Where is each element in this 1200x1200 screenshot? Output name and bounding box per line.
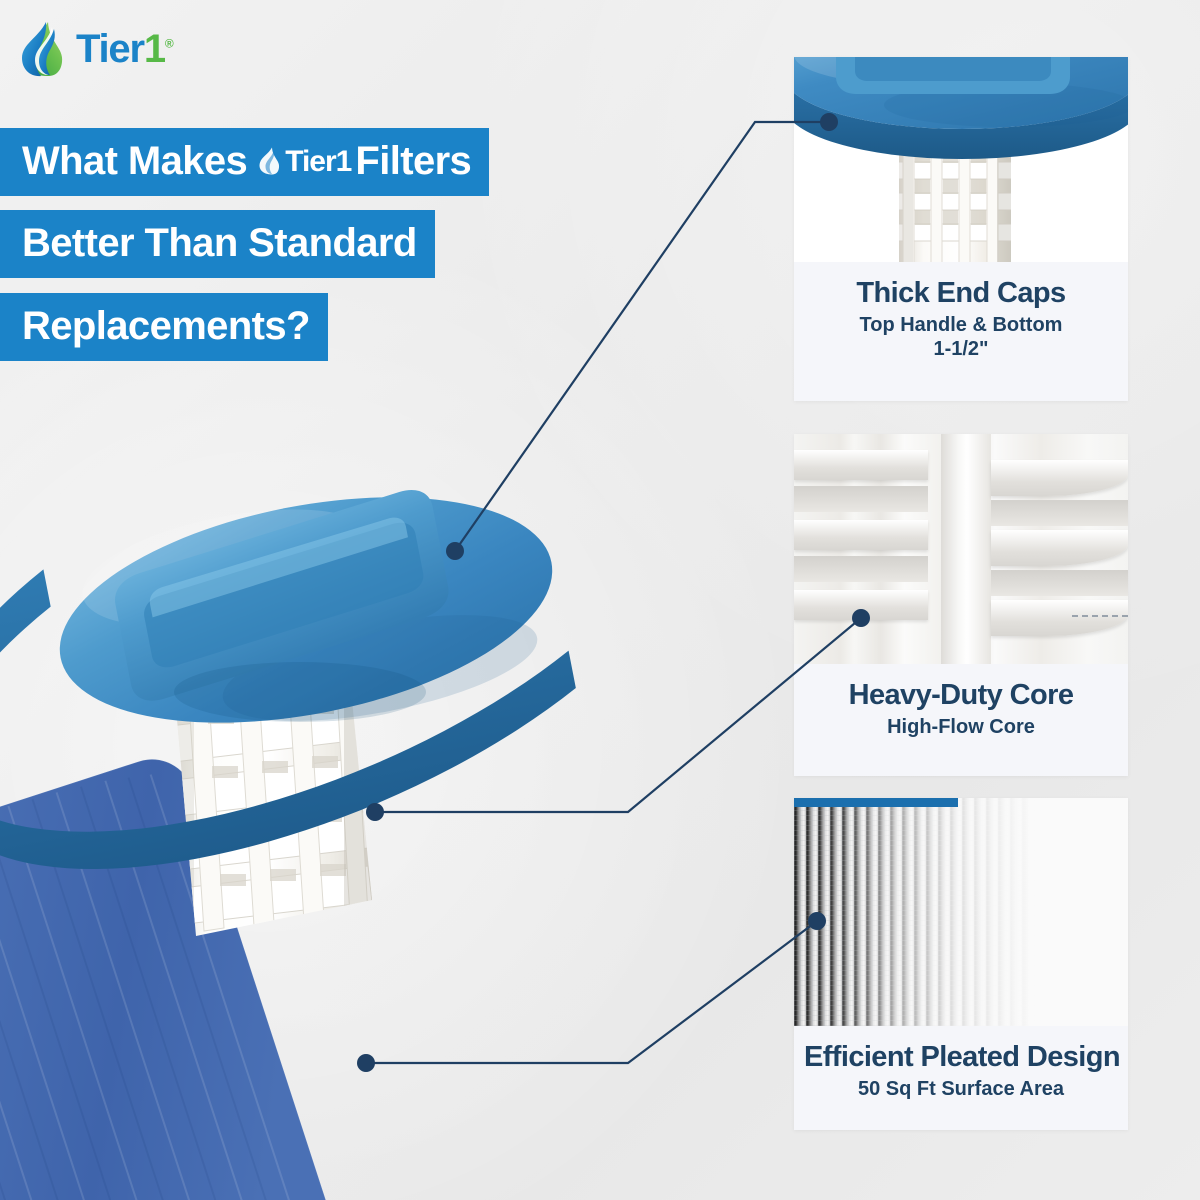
headline-line-1: What Makes Tier1 Filters bbox=[0, 128, 489, 196]
core-window bbox=[794, 486, 928, 512]
core-measurement-hint-line bbox=[1072, 615, 1128, 617]
core-rib bbox=[794, 520, 928, 550]
infographic-canvas: Tier1® What Makes Tier1 Filters Better T… bbox=[0, 0, 1200, 1200]
logo-wordmark: Tier1® bbox=[76, 29, 173, 69]
core-window bbox=[991, 570, 1128, 596]
panel-3-title: Efficient Pleated Design bbox=[804, 1042, 1118, 1072]
inline-tier1-logo: Tier1 bbox=[257, 145, 351, 177]
pleated-media-photo bbox=[794, 798, 1128, 1026]
core-center-post bbox=[941, 434, 991, 664]
inline-logo-wordmark: Tier1 bbox=[285, 147, 351, 177]
end-cap-handle bbox=[836, 57, 1070, 94]
core-rib bbox=[794, 590, 928, 620]
core-rib bbox=[794, 450, 928, 480]
heavy-duty-core-photo bbox=[794, 434, 1128, 664]
callout-panel-efficient-pleated-design[interactable]: Efficient Pleated Design 50 Sq Ft Surfac… bbox=[794, 798, 1128, 1130]
panel-3-caption: Efficient Pleated Design 50 Sq Ft Surfac… bbox=[794, 1026, 1128, 1130]
hero-product-image bbox=[0, 400, 700, 1200]
inline-water-droplet-icon bbox=[257, 145, 283, 177]
core-rib bbox=[991, 600, 1128, 636]
headline-line-3: Replacements? bbox=[0, 293, 328, 361]
panel-2-caption: Heavy-Duty Core High-Flow Core bbox=[794, 664, 1128, 776]
panel-2-subtitle-line1: High-Flow Core bbox=[804, 715, 1118, 739]
panel-3-subtitle-line1: 50 Sq Ft Surface Area bbox=[804, 1077, 1118, 1101]
core-window bbox=[794, 556, 928, 582]
core-closeup-illustration bbox=[794, 434, 1128, 664]
pleated-media-illustration bbox=[794, 798, 1128, 1026]
tier1-brand-logo[interactable]: Tier1® bbox=[18, 18, 228, 80]
core-rib bbox=[991, 530, 1128, 566]
core-window bbox=[991, 500, 1128, 526]
pleat-blue-top-band bbox=[794, 798, 958, 807]
pool-filter-cartridge-illustration bbox=[0, 400, 700, 1200]
core-rib bbox=[991, 460, 1128, 496]
headline-line-2: Better Than Standard bbox=[0, 210, 435, 278]
panel-1-title: Thick End Caps bbox=[804, 278, 1118, 308]
end-cap-closeup-illustration bbox=[794, 57, 1128, 262]
headline-block: What Makes Tier1 Filters Better Than Sta… bbox=[0, 128, 489, 375]
logo-word-one: 1 bbox=[144, 27, 165, 71]
panel-1-subtitle-line1: Top Handle & Bottom bbox=[804, 313, 1118, 337]
logo-word-tier: Tier bbox=[76, 27, 144, 71]
headline-line1-before: What Makes bbox=[22, 141, 247, 181]
blue-end-cap-photo bbox=[794, 57, 1128, 262]
pleat-fade-overlay bbox=[794, 798, 1128, 1026]
panel-1-subtitle-line2: 1-1/2" bbox=[804, 337, 1118, 361]
water-droplet-leaf-icon bbox=[18, 20, 70, 78]
registered-trademark-icon: ® bbox=[165, 37, 173, 51]
headline-line1-after: Filters bbox=[355, 141, 471, 181]
callout-panel-thick-end-caps[interactable]: Thick End Caps Top Handle & Bottom 1-1/2… bbox=[794, 57, 1128, 401]
panel-2-title: Heavy-Duty Core bbox=[804, 680, 1118, 710]
panel-1-caption: Thick End Caps Top Handle & Bottom 1-1/2… bbox=[794, 262, 1128, 401]
callout-panel-heavy-duty-core[interactable]: Heavy-Duty Core High-Flow Core bbox=[794, 434, 1128, 776]
